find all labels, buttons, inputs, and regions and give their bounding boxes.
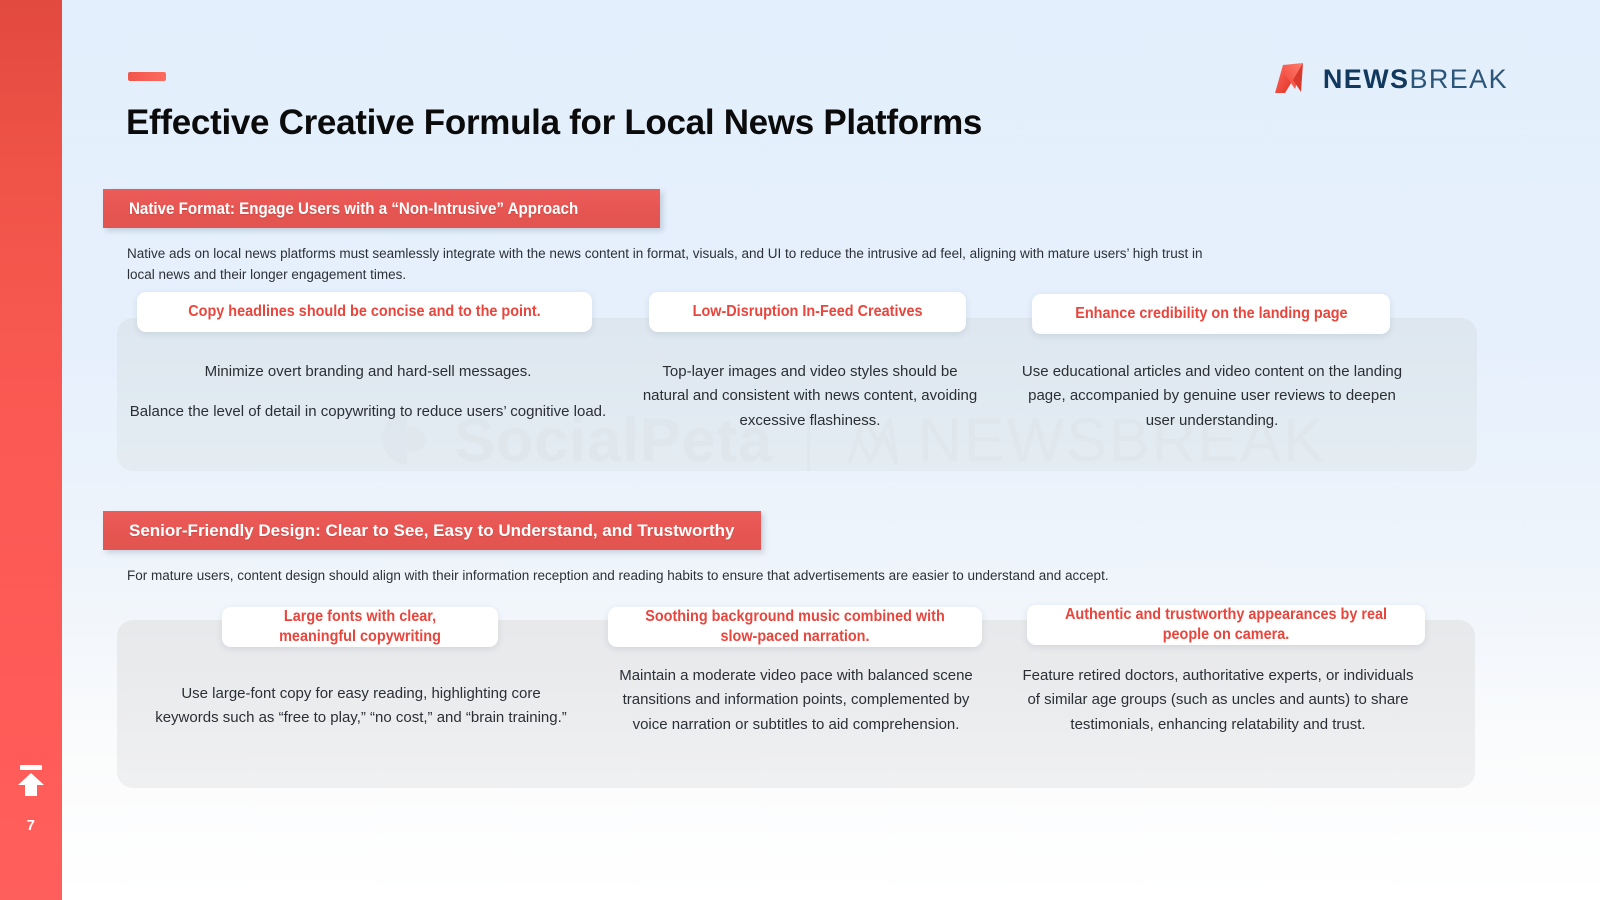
section-1-pill-3[interactable]: Enhance credibility on the landing page: [1032, 294, 1390, 334]
section-2-column-2-text: Maintain a moderate video pace with bala…: [610, 664, 982, 737]
paragraph: Minimize overt branding and hard-sell me…: [128, 360, 608, 384]
paragraph: Feature retired doctors, authoritative e…: [1020, 664, 1416, 737]
paragraph: Use large-font copy for easy reading, hi…: [150, 682, 572, 731]
section-1-pill-3-label: Enhance credibility on the landing page: [1075, 304, 1347, 324]
brand-name-bold: NEWS: [1323, 64, 1410, 94]
section-2-pill-1-label: Large fonts with clear, meaningful copyw…: [247, 607, 474, 647]
slide-canvas: SocialPeta NEWSBREAK Effective Creative …: [0, 0, 1600, 900]
section-1-pill-1[interactable]: Copy headlines should be concise and to …: [137, 292, 592, 332]
section-1-banner: Native Format: Engage Users with a “Non-…: [103, 189, 660, 228]
paragraph: Use educational articles and video conte…: [1012, 360, 1412, 433]
section-1-column-2-text: Top-layer images and video styles should…: [640, 360, 980, 433]
section-2-description: For mature users, content design should …: [127, 566, 1387, 587]
section-1-column-3-text: Use educational articles and video conte…: [1012, 360, 1412, 433]
paragraph: Top-layer images and video styles should…: [640, 360, 980, 433]
section-2-pill-1[interactable]: Large fonts with clear, meaningful copyw…: [222, 607, 498, 647]
section-1-pill-1-label: Copy headlines should be concise and to …: [188, 302, 540, 322]
section-2-pill-2-label: Soothing background music combined with …: [636, 607, 954, 647]
brand-name-light: BREAK: [1409, 64, 1508, 94]
section-2-pill-2[interactable]: Soothing background music combined with …: [608, 607, 982, 647]
section-2-banner: Senior-Friendly Design: Clear to See, Ea…: [103, 511, 761, 550]
section-2-column-1-text: Use large-font copy for easy reading, hi…: [150, 682, 572, 731]
paragraph: Maintain a moderate video pace with bala…: [610, 664, 982, 737]
section-2-pill-3[interactable]: Authentic and trustworthy appearances by…: [1027, 605, 1425, 645]
section-1-pill-2[interactable]: Low-Disruption In-Feed Creatives: [649, 292, 966, 332]
section-1-description: Native ads on local news platforms must …: [127, 244, 1227, 286]
page-number: 7: [27, 817, 36, 834]
section-2-banner-label: Senior-Friendly Design: Clear to See, Ea…: [129, 521, 735, 541]
rail-icon-group: 7: [0, 765, 62, 834]
brand-logo: NEWSBREAK: [1272, 62, 1508, 96]
page-title: Effective Creative Formula for Local New…: [126, 103, 982, 143]
upload-arrow-icon[interactable]: [16, 765, 46, 799]
section-2-pill-3-label: Authentic and trustworthy appearances by…: [1056, 605, 1396, 645]
brand-wordmark: NEWSBREAK: [1323, 66, 1508, 93]
section-1-pill-2-label: Low-Disruption In-Feed Creatives: [693, 302, 923, 322]
paragraph: Balance the level of detail in copywriti…: [128, 400, 608, 424]
section-1-column-1-text: Minimize overt branding and hard-sell me…: [128, 360, 608, 425]
title-accent-bar: [128, 72, 166, 81]
left-rail: 7: [0, 0, 62, 900]
section-2-column-3-text: Feature retired doctors, authoritative e…: [1020, 664, 1416, 737]
section-1-banner-label: Native Format: Engage Users with a “Non-…: [129, 199, 578, 219]
newsbreak-zigzag-logo-icon: [1272, 62, 1310, 96]
